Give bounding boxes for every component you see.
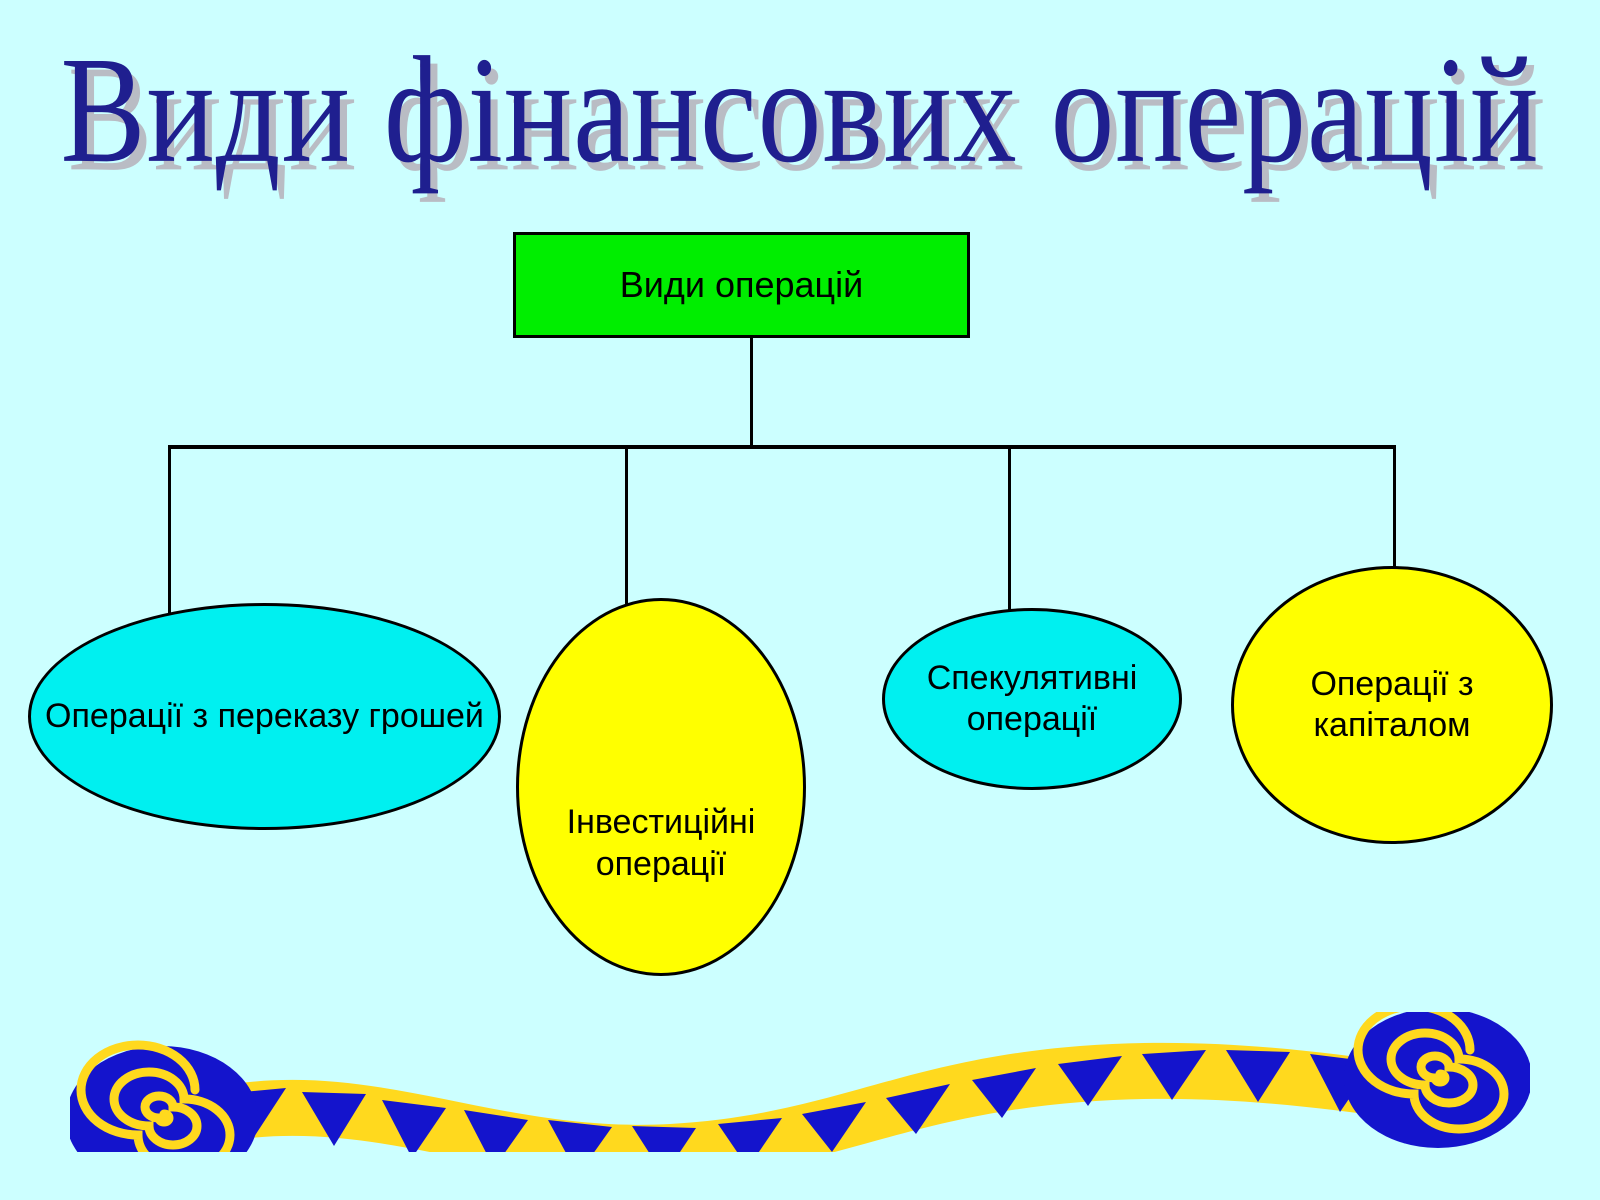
page-title-text: Види фінансових операцій — [60, 32, 1539, 192]
slide-canvas: Види фінансових операцій Види операцій О… — [0, 0, 1600, 1200]
node-3-label: Операції з капіталом — [1234, 664, 1550, 747]
connector-root-stem — [750, 338, 753, 449]
ribbon-band-icon — [200, 1043, 1410, 1152]
connector-horizontal-bar — [168, 445, 1396, 449]
wavy-ribbon-decoration — [70, 1012, 1530, 1152]
connector-drop-3 — [1008, 445, 1011, 623]
connector-drop-4 — [1393, 445, 1396, 570]
node-spekulyatyvni-operacii[interactable]: Спекулятивні операції — [882, 608, 1182, 790]
node-2-label: Спекулятивні операції — [885, 658, 1179, 741]
connector-drop-2 — [625, 445, 628, 610]
node-root-vydy-operacij[interactable]: Види операцій — [513, 232, 970, 338]
connector-drop-1 — [168, 445, 171, 627]
node-investycijni-operacii[interactable]: Інвестиційні операції — [516, 598, 806, 976]
node-0-label: Операції з переказу грошей — [31, 696, 498, 737]
page-title: Види фінансових операцій — [0, 22, 1600, 202]
spiral-right-icon — [1344, 1012, 1530, 1148]
node-operacii-z-perekazu-hroshej[interactable]: Операції з переказу грошей — [28, 603, 501, 830]
node-root-label: Види операцій — [620, 264, 864, 306]
ribbon-svg — [70, 1012, 1530, 1152]
node-1-label: Інвестиційні операції — [519, 802, 803, 973]
node-operacii-z-kapitalom[interactable]: Операції з капіталом — [1231, 566, 1553, 844]
spiral-left-icon — [70, 1045, 258, 1152]
